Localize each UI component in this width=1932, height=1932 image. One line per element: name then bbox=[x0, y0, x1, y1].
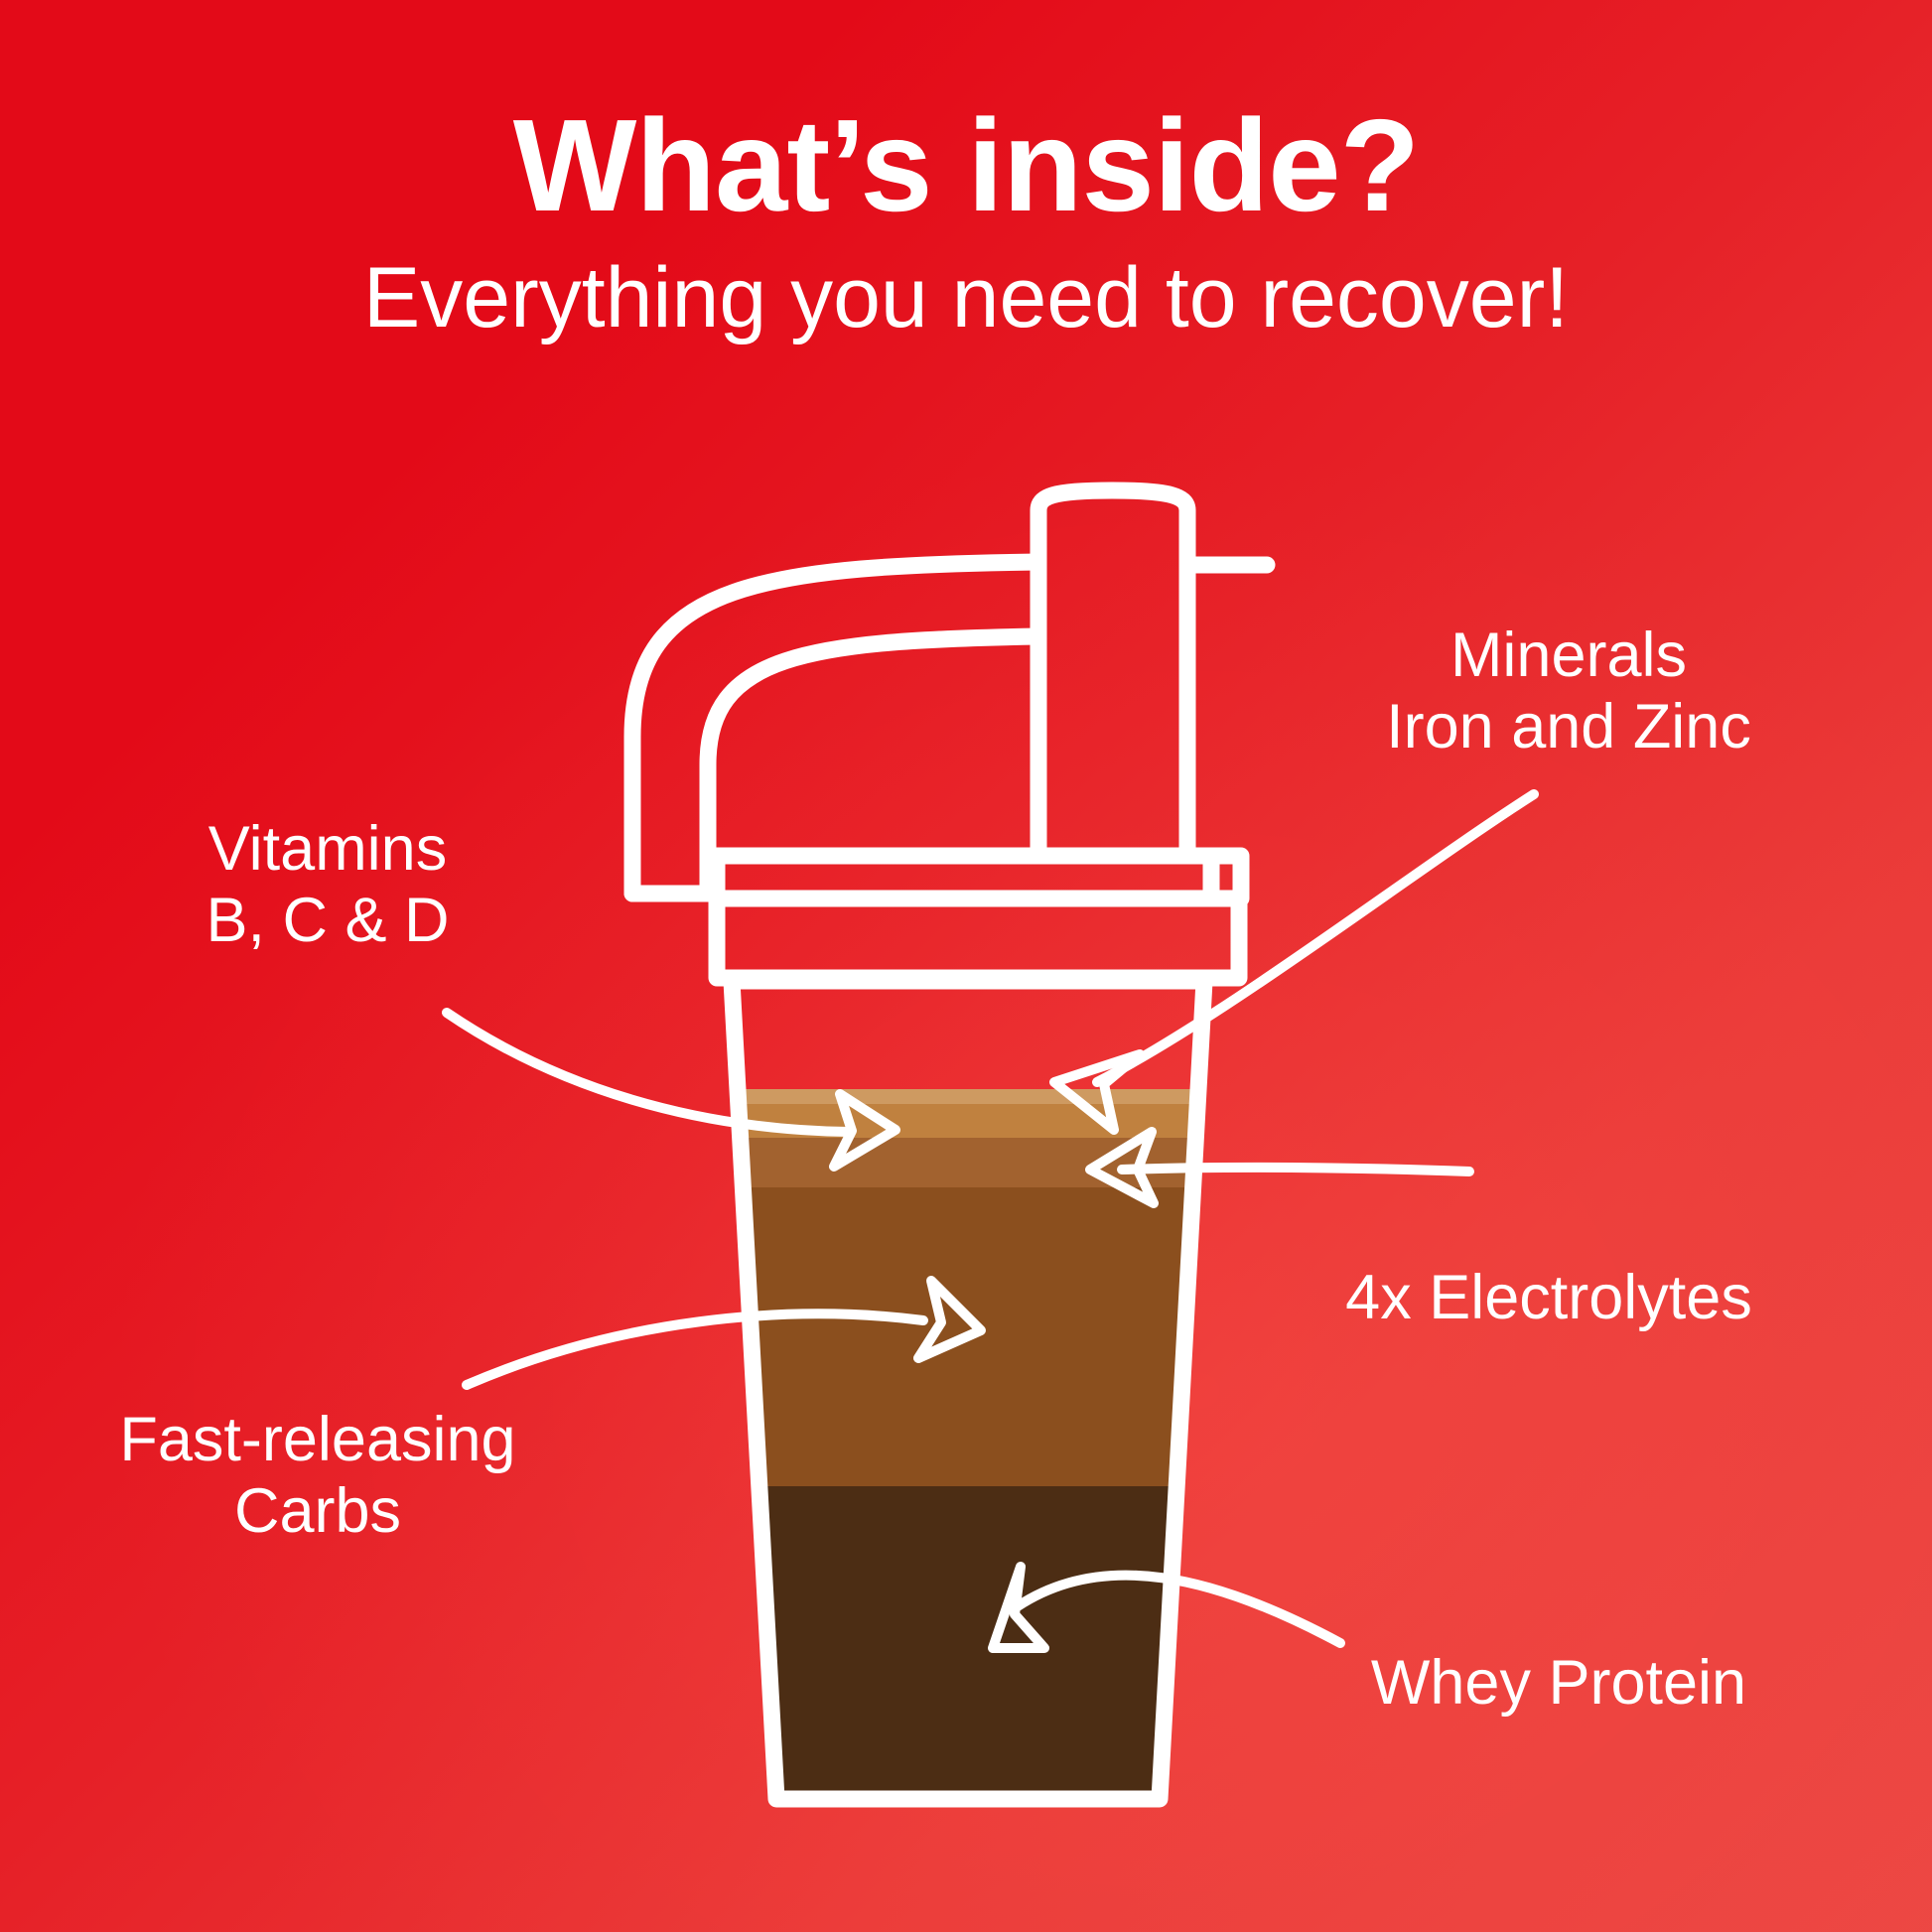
arrow-vitamins bbox=[447, 1013, 896, 1167]
arrow-minerals bbox=[1054, 794, 1534, 1130]
callout-carbs-line-1: Fast-releasing bbox=[60, 1405, 576, 1476]
arrow-electrolytes bbox=[1090, 1132, 1469, 1203]
callout-minerals-line-1: Minerals bbox=[1311, 621, 1827, 692]
page-title: What’s inside? bbox=[0, 95, 1932, 237]
callout-vitamins-line-1: Vitamins bbox=[119, 814, 536, 886]
callout-label-minerals: Minerals Iron and Zinc bbox=[1311, 621, 1827, 763]
arrow-carbs bbox=[467, 1281, 981, 1385]
page-subtitle: Everything you need to recover! bbox=[0, 251, 1932, 345]
callout-label-electrolytes: 4x Electrolytes bbox=[1281, 1263, 1817, 1334]
callout-electrolytes-line-1: 4x Electrolytes bbox=[1281, 1263, 1817, 1334]
callout-label-whey: Whey Protein bbox=[1301, 1648, 1817, 1720]
callout-vitamins-line-2: B, C & D bbox=[119, 886, 536, 957]
callout-label-carbs: Fast-releasing Carbs bbox=[60, 1405, 576, 1548]
callout-carbs-line-2: Carbs bbox=[60, 1476, 576, 1548]
callout-whey-line-1: Whey Protein bbox=[1301, 1648, 1817, 1720]
infographic-canvas: What’s inside? Everything you need to re… bbox=[0, 0, 1932, 1932]
callout-label-vitamins: Vitamins B, C & D bbox=[119, 814, 536, 957]
header-block: What’s inside? Everything you need to re… bbox=[0, 95, 1932, 345]
callout-minerals-line-2: Iron and Zinc bbox=[1311, 692, 1827, 763]
arrow-whey bbox=[993, 1567, 1340, 1648]
